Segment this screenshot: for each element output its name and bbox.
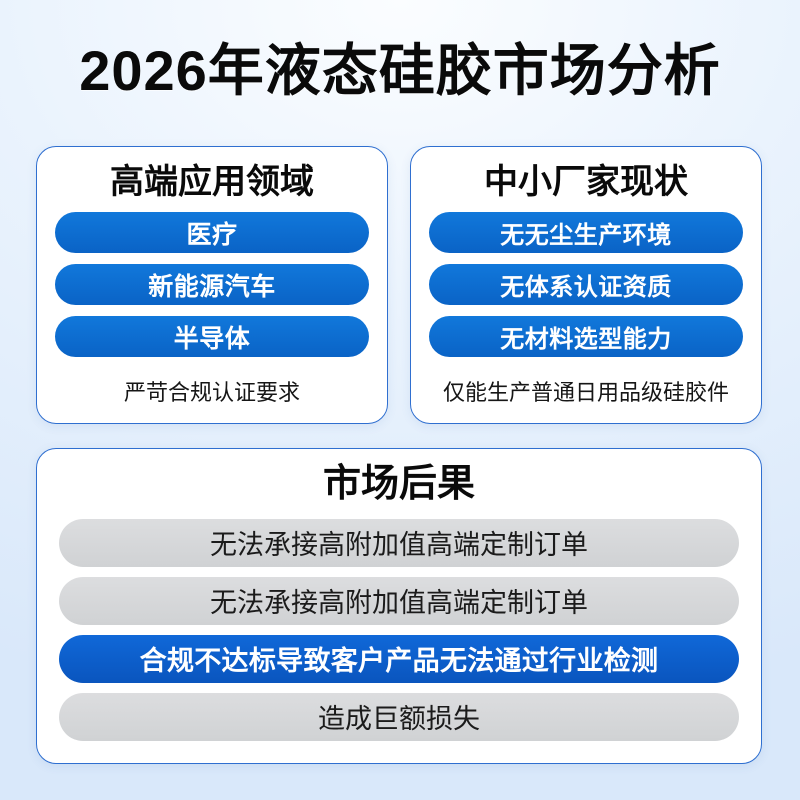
outcome-row-highlighted[interactable]: 合规不达标导致客户产品无法通过行业检测	[59, 635, 739, 683]
pill-item[interactable]: 无材料选型能力	[429, 316, 743, 357]
card-premium-footer-note: 严苛合规认证要求	[124, 375, 300, 409]
card-small-factory-status: 中小厂家现状 无无尘生产环境 无体系认证资质 无材料选型能力 仅能生产普通日用品…	[410, 146, 762, 424]
pill-item[interactable]: 无无尘生产环境	[429, 212, 743, 253]
card-premium-body: 高端应用领域 医疗 新能源汽车 半导体 严苛合规认证要求	[37, 147, 387, 423]
outcome-row[interactable]: 无法承接高附加值高端定制订单	[59, 519, 739, 567]
pill-item[interactable]: 半导体	[55, 316, 369, 357]
card-premium-applications: 高端应用领域 医疗 新能源汽车 半导体 严苛合规认证要求	[36, 146, 388, 424]
card-small-factory-footer-note: 仅能生产普通日用品级硅胶件	[443, 375, 729, 409]
card-small-factory-title: 中小厂家现状	[484, 163, 688, 202]
card-premium-title: 高端应用领域	[110, 163, 314, 202]
page-title: 2026年液态硅胶市场分析	[0, 42, 800, 101]
card-small-factory-pill-list: 无无尘生产环境 无体系认证资质 无材料选型能力	[429, 212, 743, 357]
pill-item[interactable]: 新能源汽车	[55, 264, 369, 305]
outcome-row[interactable]: 造成巨额损失	[59, 693, 739, 741]
card-outcome-body: 市场后果 无法承接高附加值高端定制订单 无法承接高附加值高端定制订单 合规不达标…	[37, 449, 761, 763]
card-market-consequences: 市场后果 无法承接高附加值高端定制订单 无法承接高附加值高端定制订单 合规不达标…	[36, 448, 762, 764]
card-small-factory-body: 中小厂家现状 无无尘生产环境 无体系认证资质 无材料选型能力 仅能生产普通日用品…	[411, 147, 761, 423]
pill-item[interactable]: 无体系认证资质	[429, 264, 743, 305]
outcome-row-list: 无法承接高附加值高端定制订单 无法承接高附加值高端定制订单 合规不达标导致客户产…	[59, 519, 739, 741]
card-outcome-title: 市场后果	[323, 463, 475, 507]
pill-item[interactable]: 医疗	[55, 212, 369, 253]
page-title-container: 2026年液态硅胶市场分析	[0, 42, 800, 101]
infographic-page: 2026年液态硅胶市场分析 高端应用领域 医疗 新能源汽车 半导体 严苛合规认证…	[0, 0, 800, 800]
outcome-row[interactable]: 无法承接高附加值高端定制订单	[59, 577, 739, 625]
card-premium-pill-list: 医疗 新能源汽车 半导体	[55, 212, 369, 357]
